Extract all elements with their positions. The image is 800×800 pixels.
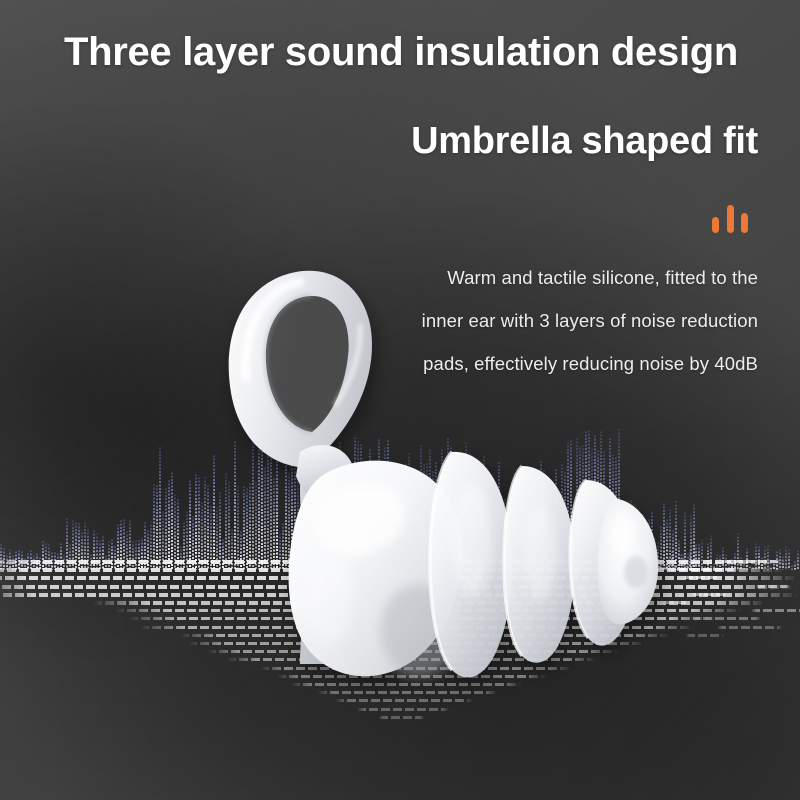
product-marketing-poster: Three layer sound insulation design Umbr…	[0, 0, 800, 800]
description-line-3: pads, effectively reducing noise by 40dB	[338, 342, 758, 385]
page-title: Three layer sound insulation design	[40, 30, 762, 75]
equalizer-icon	[712, 203, 748, 233]
equalizer-bar-short	[712, 217, 719, 233]
description-line-2: inner ear with 3 layers of noise reducti…	[338, 299, 758, 342]
equalizer-bar-medium	[741, 213, 748, 233]
equalizer-bar-tall	[727, 205, 734, 233]
page-subtitle: Umbrella shaped fit	[411, 120, 758, 163]
description-line-1: Warm and tactile silicone, fitted to the	[338, 256, 758, 299]
tip-sound-port	[624, 556, 648, 588]
product-description: Warm and tactile silicone, fitted to the…	[338, 256, 758, 385]
